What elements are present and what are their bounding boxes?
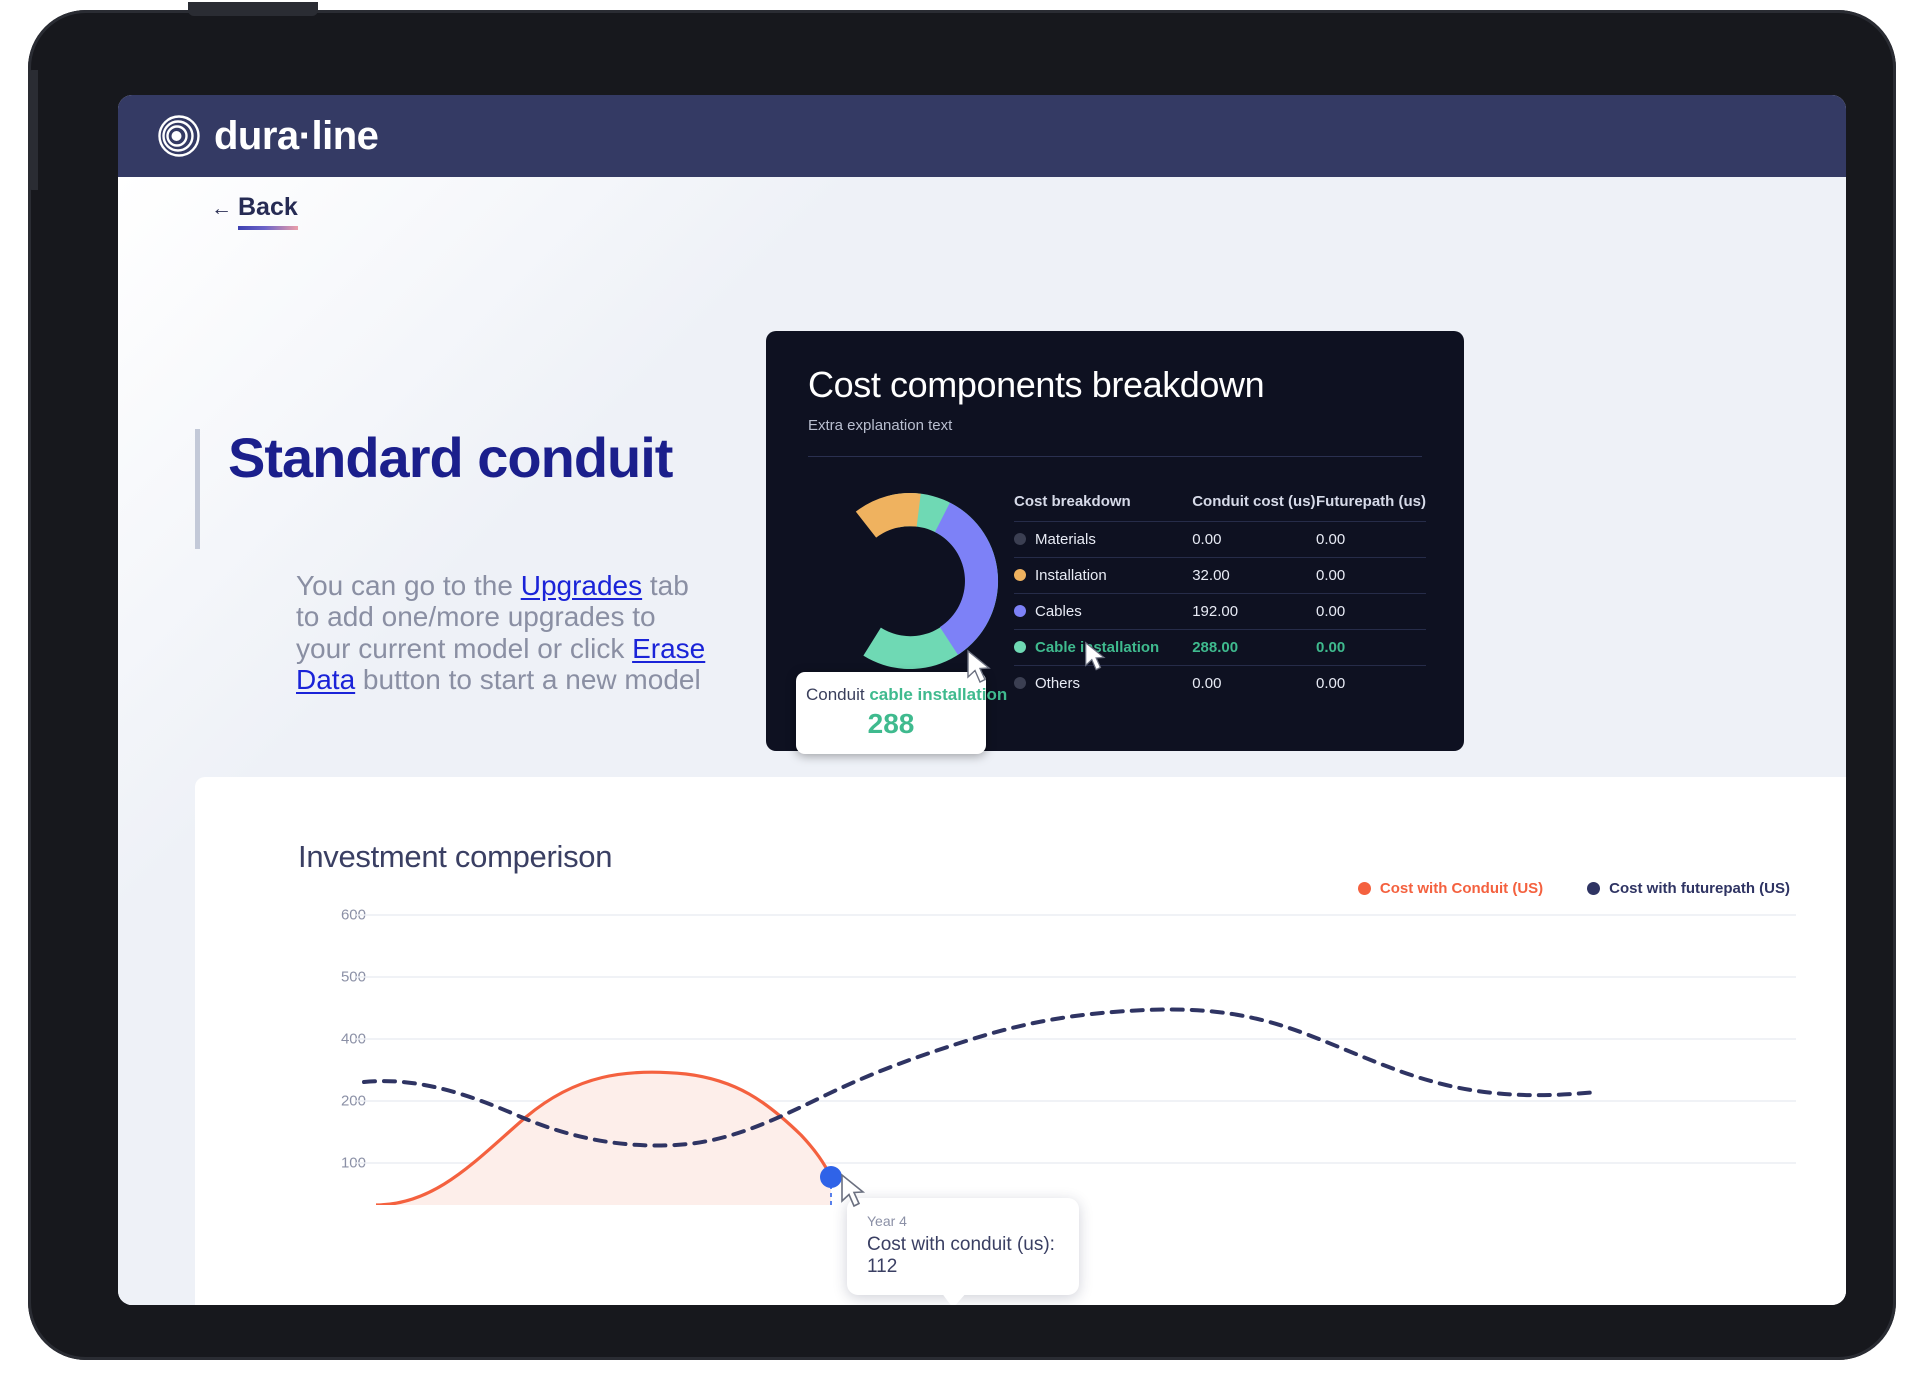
cell-conduit-cost: 0.00 bbox=[1192, 666, 1316, 702]
chart-title: Investment comperison bbox=[298, 839, 612, 875]
donut-chart[interactable] bbox=[800, 474, 1020, 689]
hover-data-point bbox=[820, 1166, 842, 1188]
donut-tooltip-prefix: Conduit bbox=[806, 685, 869, 704]
app-header: dura·line bbox=[118, 95, 1846, 177]
line-chart-svg bbox=[356, 905, 1796, 1205]
legend-label-futurepath: Cost with futurepath (US) bbox=[1609, 880, 1790, 897]
legend-item-futurepath[interactable]: Cost with futurepath (US) bbox=[1587, 880, 1790, 897]
legend-dot bbox=[1014, 677, 1026, 689]
investment-chart-panel: Investment comperison Cost with Conduit … bbox=[195, 777, 1846, 1305]
donut-tooltip-label: Conduit cable installation bbox=[806, 685, 976, 705]
cell-label: Installation bbox=[1014, 558, 1192, 594]
cost-card-title: Cost components breakdown bbox=[808, 365, 1422, 405]
cell-futurepath-cost: 0.00 bbox=[1316, 558, 1426, 594]
legend-dot bbox=[1014, 533, 1026, 545]
cost-breakdown-table: Cost breakdown Conduit cost (us) Futurep… bbox=[1014, 493, 1426, 701]
cell-conduit-cost: 288.00 bbox=[1192, 630, 1316, 666]
tooltip-tail bbox=[941, 1292, 967, 1305]
tooltip-year: Year 4 bbox=[867, 1213, 1059, 1229]
donut-tooltip-highlight: cable installation bbox=[869, 685, 1007, 704]
page-content: ← Back Standard conduit You can go to th… bbox=[118, 177, 1846, 1305]
brand-name: dura·line bbox=[214, 116, 378, 156]
table-row[interactable]: Cable installation288.000.00 bbox=[1014, 630, 1426, 666]
legend-dot-futurepath bbox=[1587, 882, 1600, 895]
intro-text-before: You can go to the bbox=[296, 570, 521, 601]
hero-intro-text: You can go to the Upgrades tab to add on… bbox=[296, 570, 716, 695]
legend-dot-conduit bbox=[1358, 882, 1371, 895]
th-conduit-cost: Conduit cost (us) bbox=[1192, 493, 1316, 522]
legend-label-conduit: Cost with Conduit (US) bbox=[1380, 880, 1543, 897]
tablet-device-frame: dura·line ← Back Standard conduit You ca… bbox=[28, 10, 1896, 1360]
row-label: Cables bbox=[1035, 603, 1082, 620]
hero-heading-block: Standard conduit bbox=[195, 429, 835, 549]
page-title: Standard conduit bbox=[228, 429, 835, 488]
table-header-row: Cost breakdown Conduit cost (us) Futurep… bbox=[1014, 493, 1426, 522]
table-row[interactable]: Installation32.000.00 bbox=[1014, 558, 1426, 594]
table-row[interactable]: Others0.000.00 bbox=[1014, 666, 1426, 702]
app-screen: dura·line ← Back Standard conduit You ca… bbox=[118, 95, 1846, 1305]
cell-futurepath-cost: 0.00 bbox=[1316, 594, 1426, 630]
legend-dot bbox=[1014, 641, 1026, 653]
legend-dot bbox=[1014, 569, 1026, 581]
back-link[interactable]: ← Back bbox=[211, 193, 298, 230]
chart-legend: Cost with Conduit (US) Cost with futurep… bbox=[1358, 880, 1790, 897]
back-label: Back bbox=[238, 193, 298, 230]
cell-conduit-cost: 32.00 bbox=[1192, 558, 1316, 594]
th-futurepath: Futurepath (us) bbox=[1316, 493, 1426, 522]
cell-label: Cable installation bbox=[1014, 630, 1192, 666]
table-row[interactable]: Cables192.000.00 bbox=[1014, 594, 1426, 630]
cell-label: Materials bbox=[1014, 522, 1192, 558]
cell-futurepath-cost: 0.00 bbox=[1316, 630, 1426, 666]
upgrades-link[interactable]: Upgrades bbox=[521, 570, 642, 601]
cell-label: Cables bbox=[1014, 594, 1192, 630]
card-divider bbox=[808, 456, 1422, 457]
row-label: Others bbox=[1035, 675, 1080, 692]
line-chart-tooltip: Year 4 Cost with conduit (us): 112 bbox=[847, 1198, 1079, 1295]
intro-text-after: button to start a new model bbox=[355, 664, 701, 695]
cell-conduit-cost: 192.00 bbox=[1192, 594, 1316, 630]
table-row[interactable]: Materials0.000.00 bbox=[1014, 522, 1426, 558]
brand-logo[interactable]: dura·line bbox=[158, 115, 378, 157]
back-arrow-icon: ← bbox=[211, 198, 232, 219]
donut-chart-svg bbox=[800, 474, 1020, 689]
cell-futurepath-cost: 0.00 bbox=[1316, 522, 1426, 558]
line-chart-plot[interactable]: 600 500 400 200 100 bbox=[298, 905, 1796, 1265]
donut-tooltip: Conduit cable installation 288 bbox=[796, 672, 986, 754]
row-label: Materials bbox=[1035, 531, 1096, 548]
donut-tooltip-value: 288 bbox=[806, 708, 976, 740]
concentric-circles-logo-icon bbox=[158, 115, 200, 157]
cost-card-subtitle: Extra explanation text bbox=[808, 417, 1422, 434]
row-label: Cable installation bbox=[1035, 639, 1159, 656]
tablet-notch bbox=[188, 2, 318, 16]
tooltip-value: Cost with conduit (us): 112 bbox=[867, 1234, 1059, 1278]
cell-conduit-cost: 0.00 bbox=[1192, 522, 1316, 558]
tablet-side-button bbox=[28, 70, 38, 190]
row-label: Installation bbox=[1035, 567, 1107, 584]
cell-futurepath-cost: 0.00 bbox=[1316, 666, 1426, 702]
cell-label: Others bbox=[1014, 666, 1192, 702]
th-cost-breakdown: Cost breakdown bbox=[1014, 493, 1192, 522]
legend-item-conduit[interactable]: Cost with Conduit (US) bbox=[1358, 880, 1543, 897]
legend-dot bbox=[1014, 605, 1026, 617]
cost-components-card: Cost components breakdown Extra explanat… bbox=[766, 331, 1464, 751]
